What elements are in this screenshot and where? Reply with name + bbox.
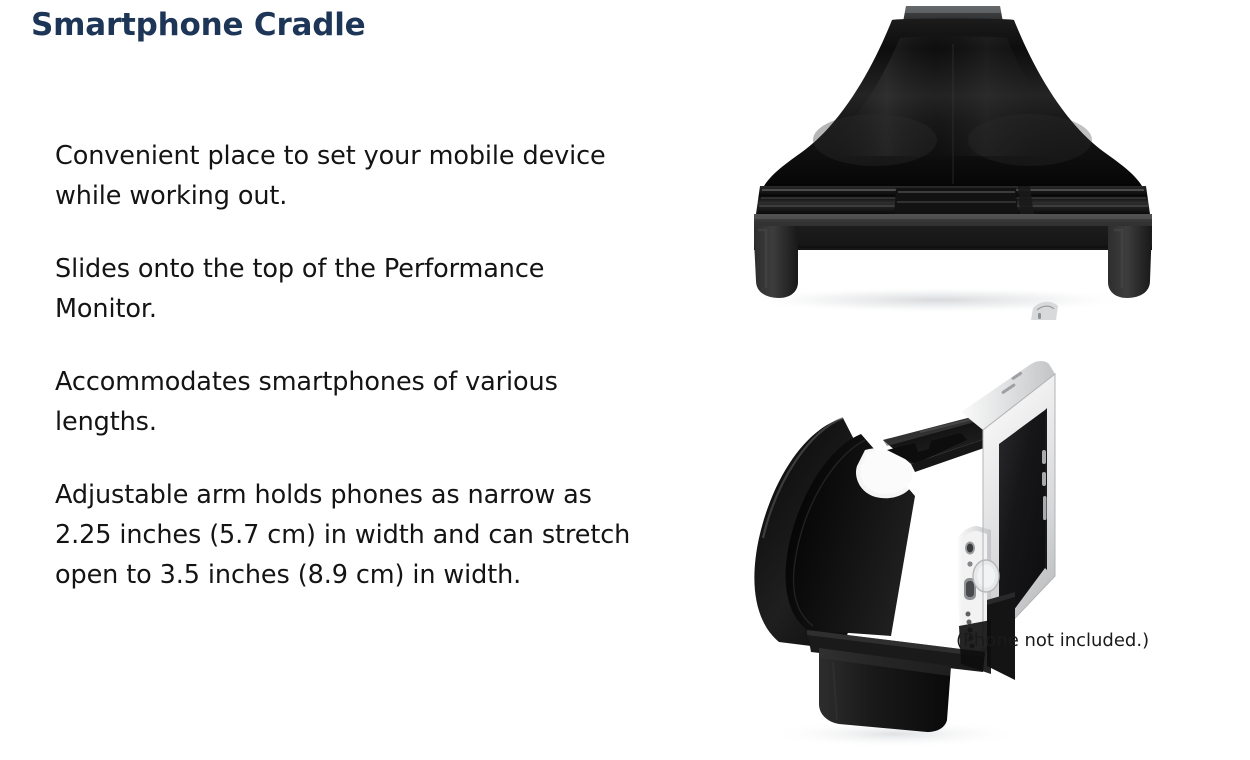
smartphone-cradle-front-view-photo — [700, 0, 1180, 320]
cradle-body — [764, 19, 1142, 187]
feature-item-convenient-place: Convenient place to set your mobile devi… — [55, 136, 640, 216]
cradle-leg-left — [754, 226, 798, 298]
phone-not-included-caption: (Phone not included.) — [956, 630, 1149, 651]
smartphone-cradle-with-phone-photo — [715, 300, 1135, 750]
cradle-leg-right — [1108, 226, 1152, 298]
feature-item-accommodates-smartphones: Accommodates smartphones of various leng… — [55, 362, 640, 442]
microphone-hole — [967, 561, 972, 566]
feature-item-adjustable-arm: Adjustable arm holds phones as narrow as… — [55, 475, 640, 595]
image-column: (Phone not included.) — [660, 0, 1250, 760]
cradle-shell — [754, 418, 915, 650]
feature-list: Convenient place to set your mobile devi… — [55, 110, 640, 595]
feature-item-slides-onto-monitor: Slides onto the top of the Performance M… — [55, 249, 640, 329]
page-title: Smartphone Cradle — [31, 7, 366, 43]
cradle-ridge-band — [756, 186, 1150, 216]
text-column: Smartphone Cradle Convenient place to se… — [0, 0, 660, 760]
